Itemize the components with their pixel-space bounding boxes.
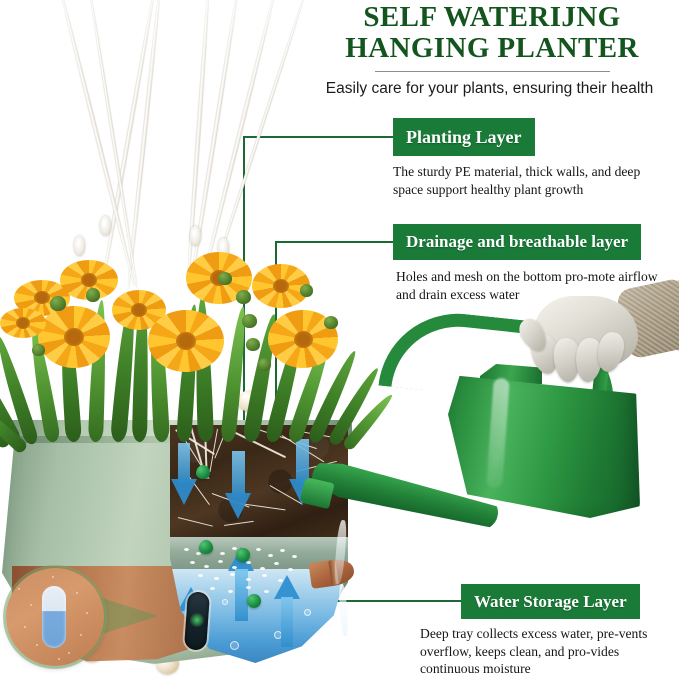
macrame-cord <box>100 0 156 288</box>
callout-description-3: Deep tray collects excess water, pre-ven… <box>420 625 670 678</box>
flower-bud <box>258 358 271 371</box>
leader-endpoint-marker-planting-lower <box>199 540 213 554</box>
infographic-canvas: SELF WATERIJNG HANGING PLANTER Easily ca… <box>0 0 679 682</box>
flower-bud <box>50 296 66 311</box>
watering-can-illustration <box>340 290 679 580</box>
water-level-indicator-window <box>42 586 66 648</box>
water-bubble <box>230 641 239 650</box>
callout-label-2: Drainage and breathable layer <box>406 232 628 252</box>
magnifier-inset <box>6 568 104 666</box>
flower-bud <box>242 314 257 328</box>
flower-bud <box>236 290 251 304</box>
flower-bud <box>300 284 313 297</box>
macrame-knot <box>100 216 111 236</box>
flower-bud <box>218 272 232 285</box>
flower-bud <box>32 344 45 356</box>
leader-endpoint-marker-water-storage <box>247 594 261 608</box>
water-stream <box>338 584 349 636</box>
callout-badge-drainage-layer[interactable]: Drainage and breathable layer <box>393 224 641 260</box>
callout-description-1: The sturdy PE material, thick walls, and… <box>393 163 665 198</box>
callout-label-3: Water Storage Layer <box>474 592 627 612</box>
leader-endpoint-marker-planting <box>196 465 210 479</box>
water-bubble <box>222 599 228 605</box>
water-bubble <box>304 609 311 616</box>
leader-endpoint-marker-drainage <box>236 548 250 562</box>
magnifier-cone <box>96 596 158 636</box>
callout-badge-water-storage-layer[interactable]: Water Storage Layer <box>461 584 640 619</box>
flower-bud <box>324 316 338 329</box>
gloved-hand <box>518 290 652 398</box>
flower-bud <box>86 288 100 302</box>
flower-bud <box>246 338 260 351</box>
water-level-gauge-indicator <box>190 613 204 627</box>
macrame-knot <box>190 226 201 246</box>
callout-label-1: Planting Layer <box>406 127 522 148</box>
